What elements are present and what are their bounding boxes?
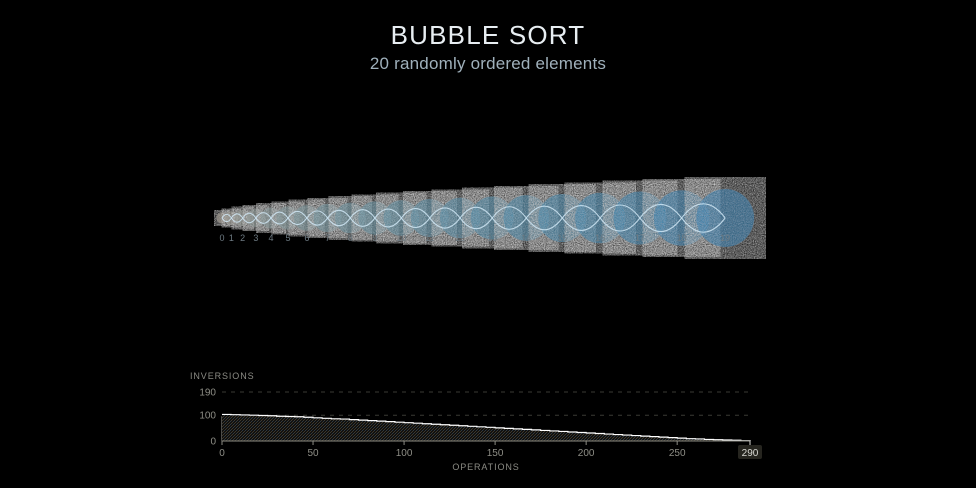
bubble-label-19: 19 bbox=[720, 233, 730, 243]
bubble-label-0: 0 bbox=[219, 233, 224, 243]
page-subtitle: 20 randomly ordered elements bbox=[0, 53, 976, 75]
bubble-label-1: 1 bbox=[229, 233, 234, 243]
x-tick-label: 0 bbox=[219, 448, 225, 459]
inversions-chart-svg: INVERSIONS0100190050100150200250290OPERA… bbox=[0, 360, 976, 480]
x-tick-label: 250 bbox=[669, 448, 686, 459]
bubble-label-3: 3 bbox=[253, 233, 258, 243]
y-axis-title: INVERSIONS bbox=[190, 371, 255, 381]
x-axis-title: OPERATIONS bbox=[452, 462, 519, 472]
bubble-label-14: 14 bbox=[521, 233, 531, 243]
page-title: BUBBLE SORT bbox=[0, 20, 976, 50]
visualization-root: BUBBLE SORT 20 randomly ordered elements… bbox=[0, 0, 976, 488]
bubble-label-15: 15 bbox=[557, 233, 567, 243]
header: BUBBLE SORT 20 randomly ordered elements bbox=[0, 20, 976, 75]
bubble-label-8: 8 bbox=[348, 233, 353, 243]
x-tick-label: 200 bbox=[578, 448, 595, 459]
bubble-chart-svg: 012345678910111213141516171819 bbox=[0, 150, 976, 270]
x-tick-label-current: 290 bbox=[742, 448, 759, 459]
y-tick-label: 0 bbox=[210, 437, 216, 448]
bubble-label-16: 16 bbox=[595, 233, 605, 243]
bubble-label-18: 18 bbox=[677, 233, 687, 243]
x-tick-label: 150 bbox=[487, 448, 504, 459]
bubble-label-12: 12 bbox=[455, 233, 465, 243]
y-tick-label: 190 bbox=[199, 388, 216, 399]
x-tick-label: 100 bbox=[396, 448, 413, 459]
bubble-label-13: 13 bbox=[487, 233, 497, 243]
bubble-label-2: 2 bbox=[240, 233, 245, 243]
bubble-label-6: 6 bbox=[304, 233, 309, 243]
bubble-label-9: 9 bbox=[372, 233, 377, 243]
bubble-label-5: 5 bbox=[285, 233, 290, 243]
bubble-label-4: 4 bbox=[268, 233, 273, 243]
x-tick-label: 50 bbox=[307, 448, 319, 459]
bubble-label-10: 10 bbox=[396, 233, 406, 243]
y-tick-label: 100 bbox=[199, 411, 216, 422]
bubble-row: 012345678910111213141516171819 bbox=[0, 150, 976, 270]
bubble-label-7: 7 bbox=[325, 233, 330, 243]
inversions-chart: INVERSIONS0100190050100150200250290OPERA… bbox=[0, 360, 976, 480]
bubble-label-17: 17 bbox=[635, 233, 645, 243]
bubble-label-11: 11 bbox=[425, 233, 434, 243]
